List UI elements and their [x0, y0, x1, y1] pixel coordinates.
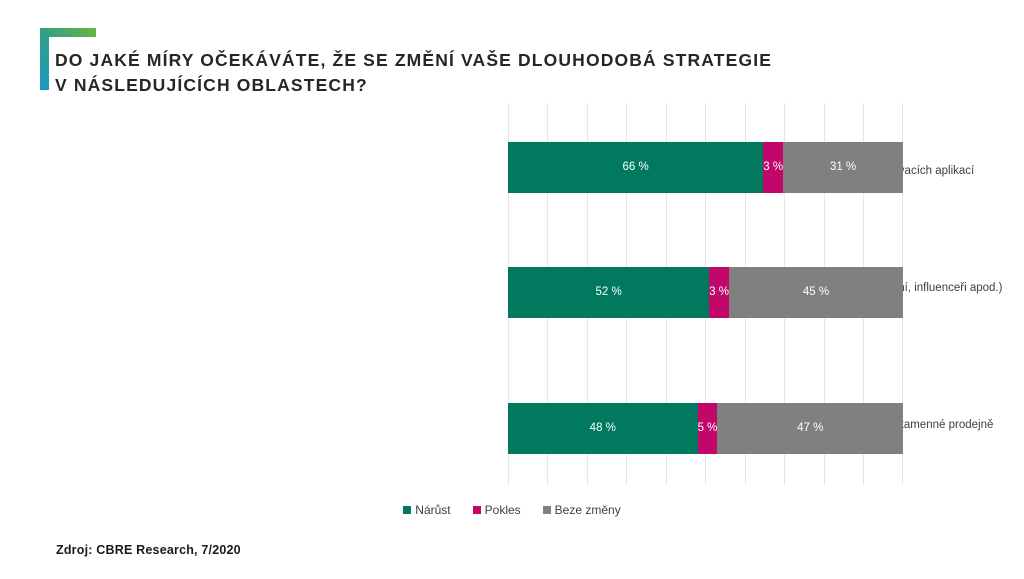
legend-item-beze-zmeny[interactable]: Beze změny — [543, 504, 621, 516]
stacked-bar-chart: Investice do rozvoje on-line nástrojů/ d… — [0, 0, 1024, 579]
bar-segment-value: 52 % — [595, 287, 621, 299]
legend-item-pokles[interactable]: Pokles — [473, 504, 521, 516]
bar-row: 66 % 3 % 31 % — [508, 142, 903, 193]
bar-segment-value: 5 % — [698, 423, 718, 435]
bar-segment-nochange: 47 % — [717, 403, 903, 454]
legend-swatch-icon — [543, 506, 551, 514]
bar-segment-value: 3 % — [709, 287, 729, 299]
bar-segment-decline: 3 % — [763, 142, 783, 193]
source-note: Zdroj: CBRE Research, 7/2020 — [56, 543, 241, 557]
legend-label: Nárůst — [415, 504, 450, 516]
bars-layer: 66 % 3 % 31 % 52 % 3 % — [508, 103, 903, 485]
bar-row: 52 % 3 % 45 % — [508, 267, 903, 318]
bar-segment-decline: 5 % — [698, 403, 718, 454]
legend-label: Beze změny — [555, 504, 621, 516]
bar-segment-value: 66 % — [623, 162, 649, 174]
slide-root: DO JAKÉ MÍRY OČEKÁVÁTE, ŽE SE ZMĚNÍ VAŠE… — [0, 0, 1024, 579]
legend-item-narust[interactable]: Nárůst — [403, 504, 450, 516]
bar-segment-value: 3 % — [763, 162, 783, 174]
bar-segment-decline: 3 % — [709, 267, 729, 318]
bar-segment-growth: 48 % — [508, 403, 698, 454]
legend-label: Pokles — [485, 504, 521, 516]
bar-segment-growth: 52 % — [508, 267, 709, 318]
bar-segment-value: 31 % — [830, 162, 856, 174]
bar-segment-growth: 66 % — [508, 142, 763, 193]
bar-segment-value: 48 % — [590, 423, 616, 435]
legend-swatch-icon — [403, 506, 411, 514]
plot-area: 66 % 3 % 31 % 52 % 3 % — [508, 103, 903, 485]
bar-segment-value: 47 % — [797, 423, 823, 435]
chart-legend: Nárůst Pokles Beze změny — [0, 504, 1024, 516]
bar-row: 48 % 5 % 47 % — [508, 403, 903, 454]
bar-segment-nochange: 31 % — [783, 142, 903, 193]
bar-segment-nochange: 45 % — [729, 267, 903, 318]
bar-segment-value: 45 % — [803, 287, 829, 299]
legend-swatch-icon — [473, 506, 481, 514]
